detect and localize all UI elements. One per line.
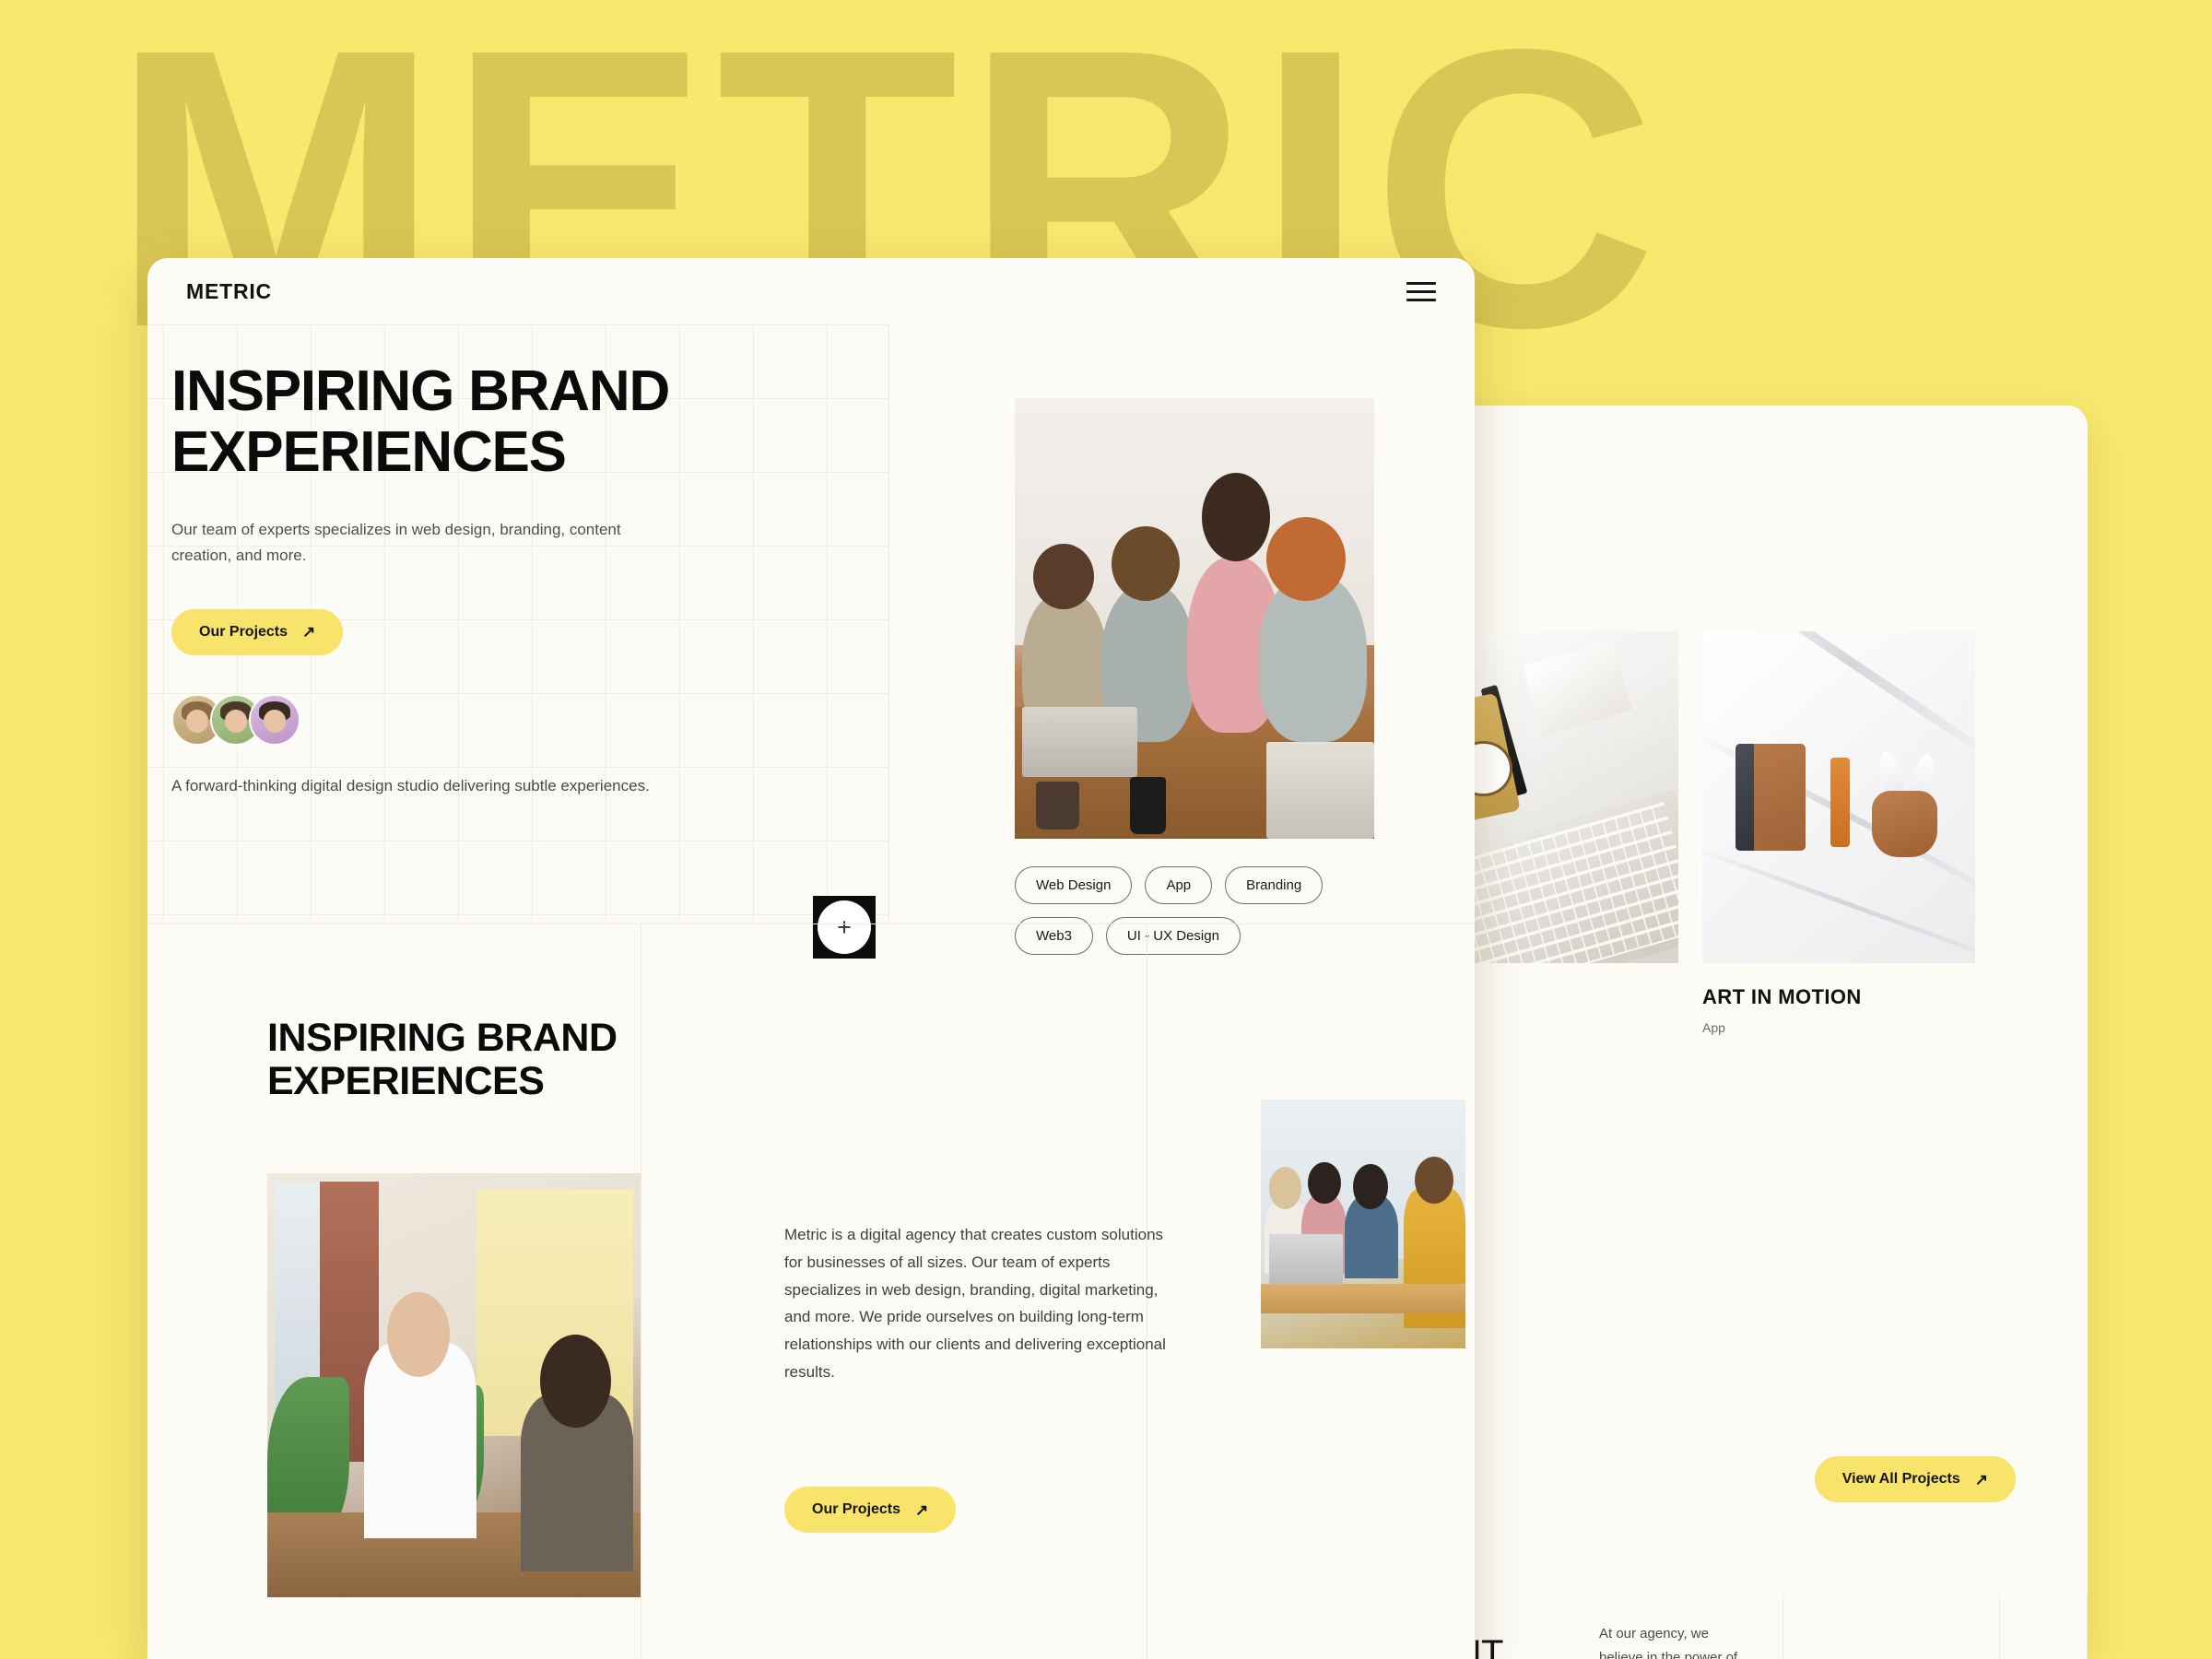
hero-section: INSPIRING BRAND EXPERIENCES Our team of … — [147, 324, 1475, 924]
view-all-projects-button[interactable]: View All Projects ↗ — [1815, 1456, 2016, 1502]
tag-web-design[interactable]: Web Design — [1015, 866, 1132, 904]
project-title: RING — [1442, 985, 1678, 1009]
about-image — [267, 1173, 641, 1597]
hamburger-line — [1406, 299, 1436, 301]
about-secondary-image — [1261, 1100, 1465, 1348]
about-left-column: INSPIRING BRAND EXPERIENCES — [147, 924, 641, 1659]
avatar-group[interactable] — [171, 694, 888, 746]
hero-left-column: INSPIRING BRAND EXPERIENCES Our team of … — [147, 324, 889, 924]
project-thumbnail-ring — [1442, 631, 1678, 963]
projects-window: RING ART IN MOTION App — [1442, 406, 2088, 1659]
studio-note: A forward-thinking digital design studio… — [171, 773, 888, 799]
about-middle-column: Metric is a digital agency that creates … — [641, 924, 1147, 1659]
arrow-up-right-icon: ↗ — [302, 624, 315, 640]
our-projects-button[interactable]: Our Projects ↗ — [171, 609, 343, 655]
avatar[interactable] — [249, 694, 300, 746]
view-all-projects-wrap: View All Projects ↗ — [1815, 1456, 2016, 1502]
about-cta-label: Our Projects — [812, 1501, 900, 1518]
about-cta-wrap: Our Projects ↗ — [784, 1487, 956, 1533]
empty-cell — [2000, 1594, 2088, 1659]
project-card[interactable]: RING — [1442, 631, 1678, 1035]
hero-image — [1015, 398, 1374, 839]
project-card[interactable]: ART IN MOTION App — [1702, 631, 1975, 1035]
project-category: App — [1702, 1020, 1975, 1035]
our-projects-wrap: Our Projects ↗ — [171, 609, 888, 655]
hamburger-icon[interactable] — [1406, 282, 1436, 301]
main-window: METRIC INSPIRING BRAND EXPERIENCES Our t… — [147, 258, 1475, 1659]
about-cta-button[interactable]: Our Projects ↗ — [784, 1487, 956, 1533]
about-right-column — [1147, 924, 1475, 1659]
site-header: METRIC — [147, 258, 1475, 324]
tag-app[interactable]: App — [1145, 866, 1212, 904]
projects-grid: RING ART IN MOTION App — [1442, 631, 2088, 1035]
brand-logo[interactable]: METRIC — [186, 279, 272, 304]
view-all-projects-label: View All Projects — [1842, 1471, 1960, 1488]
about-title: INSPIRING BRAND EXPERIENCES — [147, 924, 641, 1104]
empty-cell — [1783, 1594, 2000, 1659]
empowerment-row: ERMENT At our agency, we believe in the … — [1442, 1594, 2088, 1659]
our-projects-label: Our Projects — [199, 624, 288, 641]
arrow-up-right-icon: ↗ — [915, 1502, 928, 1518]
hero-right-column: Web Design App Branding Web3 UI - UX Des… — [890, 324, 1475, 924]
empowerment-description: At our agency, we believe in the power o… — [1571, 1594, 1783, 1659]
project-thumbnail-art-in-motion — [1702, 631, 1975, 963]
arrow-up-right-icon: ↗ — [1975, 1472, 1988, 1488]
page-title: INSPIRING BRAND EXPERIENCES — [171, 361, 888, 482]
tag-branding[interactable]: Branding — [1225, 866, 1323, 904]
hero-subtitle: Our team of experts specializes in web d… — [171, 517, 632, 568]
hamburger-line — [1406, 290, 1436, 293]
about-body-text: Metric is a digital agency that creates … — [784, 1221, 1176, 1386]
hamburger-line — [1406, 282, 1436, 285]
about-section: INSPIRING BRAND EXPERIENCES Metric is a … — [147, 924, 1475, 1659]
project-title: ART IN MOTION — [1702, 985, 1975, 1009]
stats-block: ERMENT At our agency, we believe in the … — [1442, 1594, 2088, 1659]
